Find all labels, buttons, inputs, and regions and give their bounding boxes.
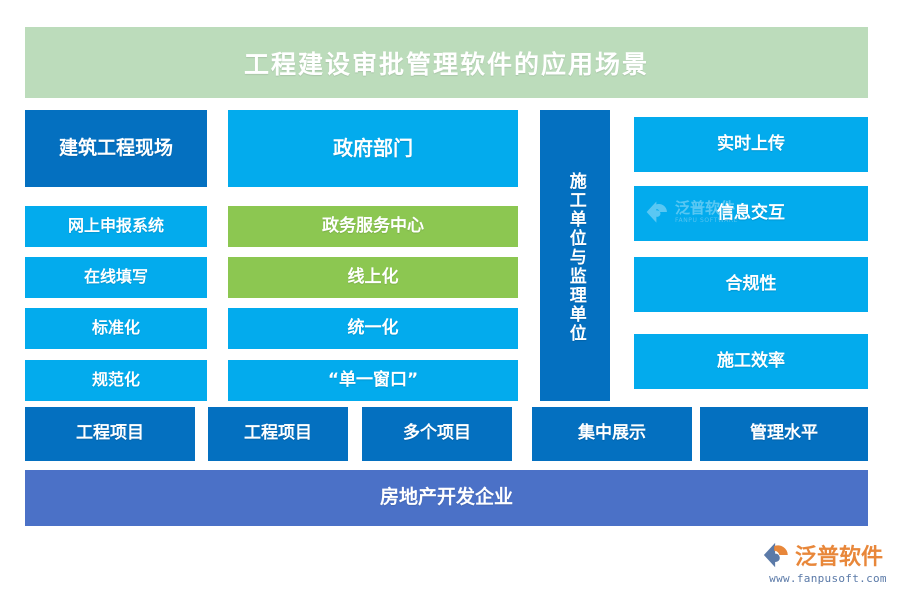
- right-item-2[interactable]: 信息交互: [634, 186, 868, 241]
- fanpu-logo: 泛普软件 www.fanpusoft.com: [762, 539, 894, 585]
- diagram-canvas: 工程建设审批管理软件的应用场景 建筑工程现场 网上申报系统 在线填写 标准化 规…: [0, 0, 900, 600]
- bottom-row-item-4[interactable]: 集中展示: [532, 407, 692, 461]
- left-item-3[interactable]: 标准化: [25, 308, 207, 349]
- title-banner: 工程建设审批管理软件的应用场景: [25, 27, 868, 98]
- middle-item-2[interactable]: 线上化: [228, 257, 518, 298]
- bottom-row-item-1[interactable]: 工程项目: [25, 407, 195, 461]
- bottom-row-item-5[interactable]: 管理水平: [700, 407, 868, 461]
- column-header-government-dept[interactable]: 政府部门: [228, 110, 518, 187]
- right-item-3[interactable]: 合规性: [634, 257, 868, 312]
- fanpu-swoosh-icon: [762, 540, 792, 570]
- column-header-contractor-supervisor[interactable]: 施工单位与监理单位: [540, 110, 610, 401]
- middle-item-4[interactable]: “单一窗口”: [228, 360, 518, 401]
- fanpu-logo-top: 泛普软件: [762, 539, 883, 571]
- left-item-1[interactable]: 网上申报系统: [25, 206, 207, 247]
- right-item-1[interactable]: 实时上传: [634, 117, 868, 172]
- left-item-4[interactable]: 规范化: [25, 360, 207, 401]
- left-item-2[interactable]: 在线填写: [25, 257, 207, 298]
- bottom-bar-real-estate[interactable]: 房地产开发企业: [25, 470, 868, 526]
- fanpu-logo-url: www.fanpusoft.com: [769, 572, 887, 585]
- bottom-row-item-3[interactable]: 多个项目: [362, 407, 512, 461]
- middle-item-3[interactable]: 统一化: [228, 308, 518, 349]
- page-title: 工程建设审批管理软件的应用场景: [244, 45, 649, 81]
- bottom-row-item-2[interactable]: 工程项目: [208, 407, 348, 461]
- column-header-construction-site[interactable]: 建筑工程现场: [25, 110, 207, 187]
- right-item-4[interactable]: 施工效率: [634, 334, 868, 389]
- middle-item-1[interactable]: 政务服务中心: [228, 206, 518, 247]
- fanpu-logo-name: 泛普软件: [795, 539, 883, 571]
